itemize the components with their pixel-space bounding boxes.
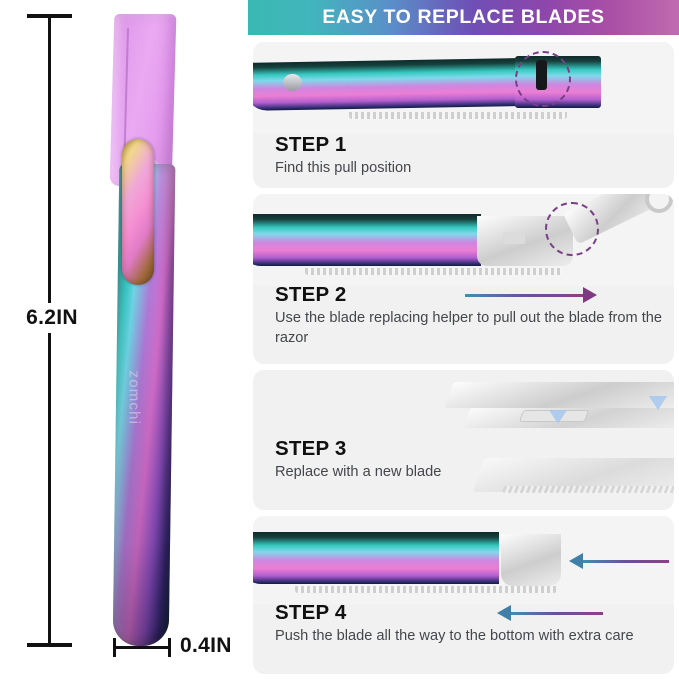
razor-product-image: zomchi xyxy=(104,14,182,646)
step-4-push-arrow-upper xyxy=(583,560,669,563)
step-1-desc: Find this pull position xyxy=(275,159,411,178)
step-4-arrow-head-upper xyxy=(569,553,583,569)
step-card-1: STEP 1 Find this pull position xyxy=(253,42,674,188)
cartridge-slot xyxy=(503,232,525,244)
razor-thumb-rest xyxy=(122,139,154,285)
step-4-desc: Push the blade all the way to the bottom… xyxy=(275,627,673,646)
width-dimension-label: 0.4IN xyxy=(180,634,232,658)
step-1-title: STEP 1 xyxy=(275,134,411,156)
instruction-pane: EASY TO REPLACE BLADES STEP 1 Find this … xyxy=(248,0,679,679)
razor-body-side xyxy=(253,532,499,584)
alignment-arrow-icon xyxy=(649,396,667,410)
step-4-photo xyxy=(253,516,674,604)
razor-brand-text: zomchi xyxy=(126,371,143,419)
razor-comb-teeth xyxy=(349,112,567,119)
helper-engagement-highlight xyxy=(545,202,599,256)
product-infographic: 6.2IN 0.4IN zomchi EASY TO REPLACE BLADE… xyxy=(0,0,679,679)
step-2-arrow-head xyxy=(583,287,597,303)
blade-pull-tab xyxy=(536,60,547,90)
new-blade xyxy=(444,382,674,408)
header-banner-title: EASY TO REPLACE BLADES xyxy=(322,6,604,29)
header-banner: EASY TO REPLACE BLADES xyxy=(248,0,679,35)
height-dimension-cap-top xyxy=(27,14,72,18)
step-4-title: STEP 4 xyxy=(275,602,673,624)
cap-seam-line xyxy=(123,28,129,158)
helper-tool-hole xyxy=(645,194,673,213)
step-1-photo xyxy=(253,42,674,134)
step-2-photo xyxy=(253,194,674,286)
step-3-desc: Replace with a new blade xyxy=(275,463,441,482)
step-1-caption: STEP 1 Find this pull position xyxy=(275,134,411,179)
razor-comb-teeth xyxy=(305,268,563,275)
step-4-caption: STEP 4 Push the blade all the way to the… xyxy=(275,602,673,647)
product-dimension-pane: 6.2IN 0.4IN zomchi xyxy=(0,0,248,679)
height-dimension-label: 6.2IN xyxy=(6,303,98,333)
step-2-direction-arrow xyxy=(465,294,585,297)
step-2-desc: Use the blade replacing helper to pull o… xyxy=(275,309,667,348)
alignment-arrow-icon xyxy=(549,410,567,424)
step-3-title: STEP 3 xyxy=(275,438,441,460)
razor-pivot-hole xyxy=(283,74,302,91)
razor-comb-teeth xyxy=(295,586,557,593)
step-card-2: STEP 2 Use the blade replacing helper to… xyxy=(253,194,674,364)
step-3-caption: STEP 3 Replace with a new blade xyxy=(275,438,441,483)
step-card-3: STEP 3 Replace with a new blade xyxy=(253,370,674,510)
width-dimension-line xyxy=(113,646,171,649)
step-card-4: STEP 4 Push the blade all the way to the… xyxy=(253,516,674,674)
installed-blade xyxy=(501,534,561,586)
step-4-arrow-head-lower xyxy=(497,605,511,621)
holder-comb-teeth xyxy=(502,486,674,493)
step-4-push-arrow-lower xyxy=(511,612,603,615)
razor-body-side xyxy=(253,214,481,266)
height-dimension-cap-bottom xyxy=(27,643,72,647)
